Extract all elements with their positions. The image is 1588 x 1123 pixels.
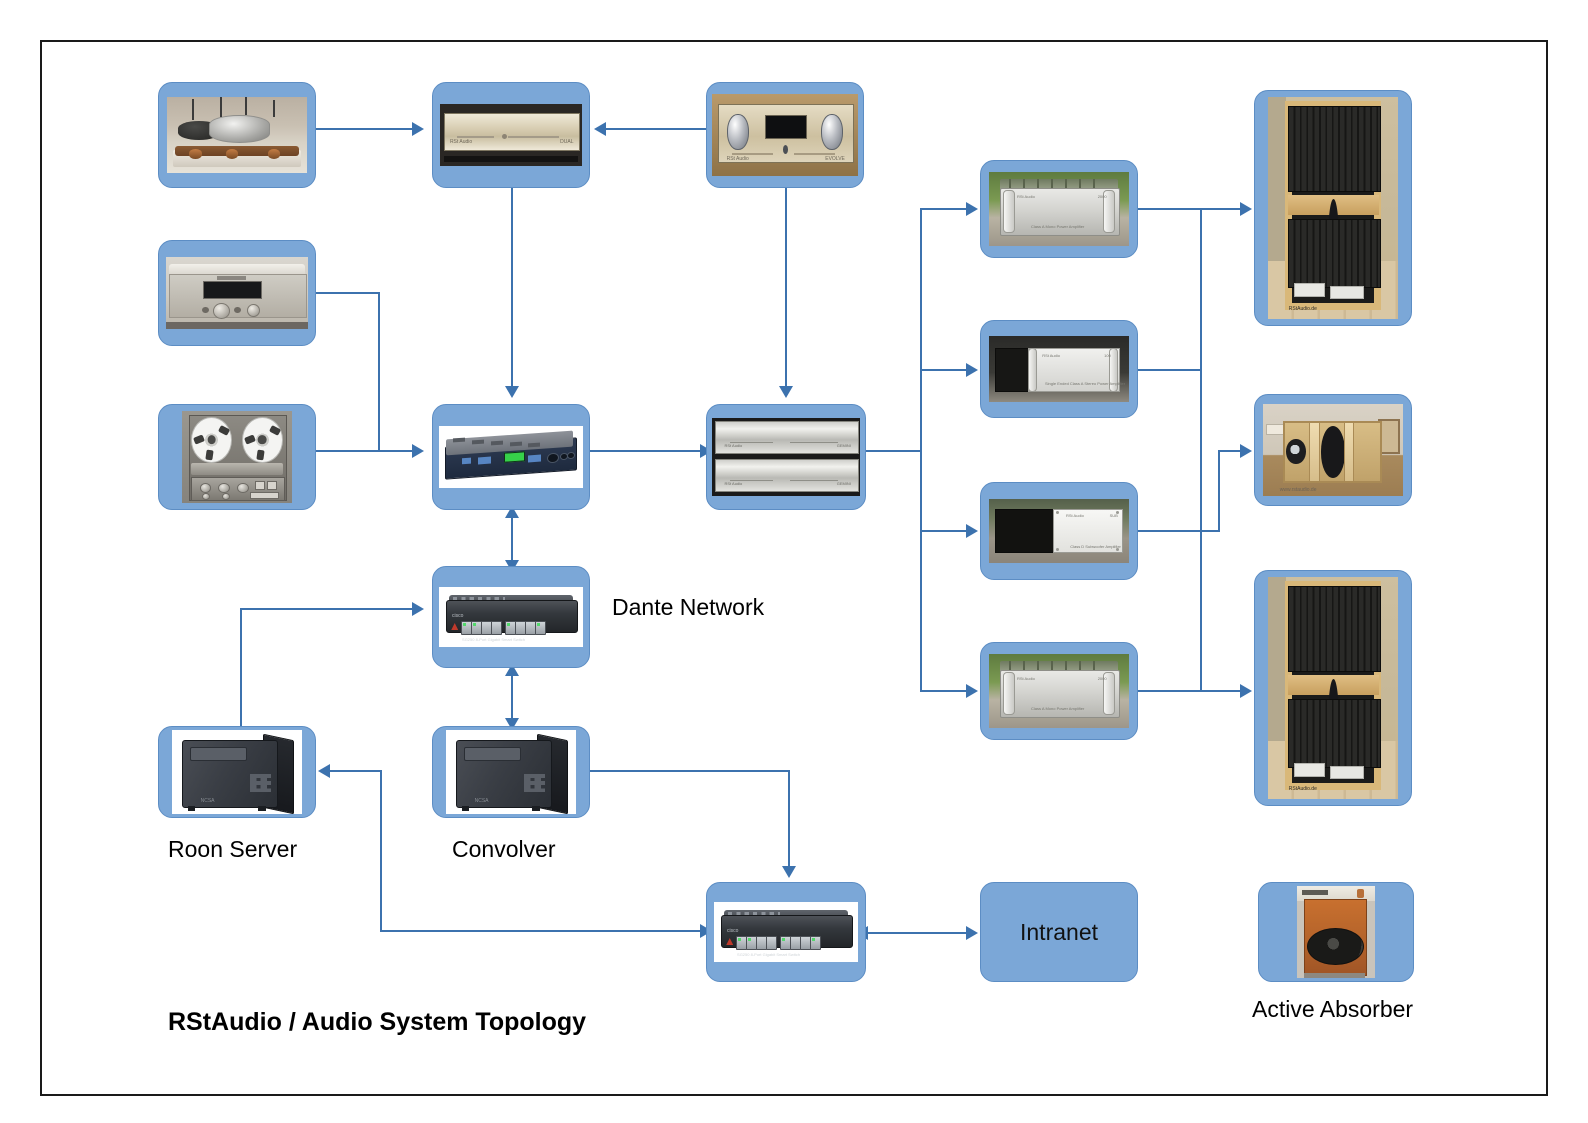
network-switch-photo: cisco SG250 8-Port Gigabit Smart Switch: [714, 902, 858, 962]
edge-reel-to-converter: [316, 450, 412, 452]
convolver-label: Convolver: [452, 836, 556, 863]
edge-cd-bus-vertical: [378, 292, 380, 451]
black-white-amp-photo: RSt Audio SUB Class D Subwoofer Amplifie…: [989, 499, 1129, 563]
edge-cd-to-bus: [316, 292, 380, 294]
node-reel-to-reel[interactable]: [158, 404, 316, 510]
node-preamplifier[interactable]: RSt Audio EVOLVE: [706, 82, 864, 188]
slim-silver-component-photo: RSt Audio DUAL: [440, 104, 582, 166]
edge-roon-to-switch-vertical: [240, 608, 242, 738]
turntable-photo: [167, 97, 307, 173]
node-dante-converter[interactable]: [432, 404, 590, 510]
monoblock-amp-photo: RSt Audio 2000 Class A Mono Power Amplif…: [989, 172, 1129, 246]
edge-phono-to-converter-arrow: [505, 386, 519, 398]
dante-network-label: Dante Network: [612, 594, 764, 621]
server-cube-photo: NCSA: [446, 730, 576, 814]
network-switch-photo: cisco SG250 8-Port Gigabit Smart Switch: [439, 587, 583, 647]
edge-phono-to-converter: [511, 186, 513, 386]
node-subwoofer[interactable]: www.rstaudio.de: [1254, 394, 1412, 506]
edge-convolver-feed-down-arrow: [782, 866, 796, 878]
edge-amp4-in-arrow: [966, 684, 978, 698]
node-speaker-bottom[interactable]: RStAudio.de: [1254, 570, 1412, 806]
edge-speaker-bottom-in-arrow: [1240, 684, 1252, 698]
active-absorber-label: Active Absorber: [1252, 996, 1413, 1023]
edge-switch-intranet: [866, 932, 974, 934]
node-intranet-switch[interactable]: cisco SG250 8-Port Gigabit Smart Switch: [706, 882, 866, 982]
edge-subwoofer-in-arrow: [1240, 444, 1252, 458]
edge-switch-intranet-right-arrow: [966, 926, 978, 940]
node-speaker-top[interactable]: RStAudio.de: [1254, 90, 1412, 326]
edge-turntable-to-phono-arrow: [412, 122, 424, 136]
silver-black-amp-photo: RSt Audio 100 Single Ended Class A Stere…: [989, 336, 1129, 402]
edge-amp3-in-arrow: [966, 524, 978, 538]
edge-speaker-bus-vertical: [1200, 208, 1202, 690]
edge-reel-to-converter-arrow: [412, 444, 424, 458]
node-cd-player[interactable]: [158, 240, 316, 346]
edge-turntable-to-phono: [316, 128, 412, 130]
edge-roon-to-switch-horizontal: [240, 608, 412, 610]
edge-ampbus-to-amp2: [920, 369, 966, 371]
diagram-canvas: RSt Audio DUAL RSt Audio EVOLVE: [0, 0, 1588, 1123]
node-amp-4[interactable]: RSt Audio 2000 Class A Mono Power Amplif…: [980, 642, 1138, 740]
edge-amp2-in-arrow: [966, 363, 978, 377]
edge-amp1-in-arrow: [966, 202, 978, 216]
rack-converter-photo: [439, 426, 583, 488]
edge-convolver-to-roon: [330, 770, 382, 772]
edge-converter-to-poweramp: [590, 450, 706, 452]
edge-roon-to-switch-arrow: [412, 602, 424, 616]
dual-slab-amp-photo: RSt Audio GEMINI RSt Audio GEMINI: [712, 418, 860, 496]
edge-ampbus-to-amp4: [920, 690, 966, 692]
edge-preamp-to-phono: [606, 128, 706, 130]
edge-ampbus-to-amp1: [920, 208, 966, 210]
cd-player-photo: [166, 257, 308, 329]
node-turntable[interactable]: [158, 82, 316, 188]
panel-speaker-photo: RStAudio.de: [1268, 97, 1398, 319]
node-intranet[interactable]: Intranet: [980, 882, 1138, 982]
edge-poweramp-to-ampbus: [866, 450, 922, 452]
edge-amp2-out: [1138, 369, 1200, 371]
node-amp-2[interactable]: RSt Audio 100 Single Ended Class A Stere…: [980, 320, 1138, 418]
reel-to-reel-photo: [182, 411, 292, 503]
intranet-label: Intranet: [1020, 919, 1098, 946]
node-convolver[interactable]: NCSA: [432, 726, 590, 818]
node-amp-3[interactable]: RSt Audio SUB Class D Subwoofer Amplifie…: [980, 482, 1138, 580]
edge-amp1-out: [1138, 208, 1248, 210]
edge-preamp-to-poweramp-arrow: [779, 386, 793, 398]
edge-intranet-to-roon-vertical: [380, 770, 382, 932]
active-absorber-photo: [1297, 886, 1375, 978]
diagram-title: RStAudio / Audio System Topology: [168, 1008, 586, 1037]
node-active-absorber[interactable]: [1258, 882, 1414, 982]
node-amp-1[interactable]: RSt Audio 2000 Class A Mono Power Amplif…: [980, 160, 1138, 258]
edge-convolver-feed-vertical: [788, 770, 790, 868]
edge-ampbus-vertical: [920, 208, 922, 690]
panel-speaker-photo: RStAudio.de: [1268, 577, 1398, 799]
edge-speaker-top-in-arrow: [1240, 202, 1252, 216]
open-baffle-subwoofer-photo: www.rstaudio.de: [1263, 404, 1403, 496]
edge-convolver-to-roon-arrow: [318, 764, 330, 778]
node-stereo-power-amp[interactable]: RSt Audio GEMINI RSt Audio GEMINI: [706, 404, 866, 510]
edge-amp4-out: [1138, 690, 1248, 692]
node-dante-switch[interactable]: cisco SG250 8-Port Gigabit Smart Switch: [432, 566, 590, 668]
preamplifier-photo: RSt Audio EVOLVE: [712, 94, 858, 176]
edge-ampbus-to-amp3: [920, 530, 966, 532]
roon-server-label: Roon Server: [168, 836, 297, 863]
node-roon-server[interactable]: NCSA: [158, 726, 316, 818]
edge-preamp-to-poweramp: [785, 186, 787, 386]
edge-preamp-to-phono-arrow: [594, 122, 606, 136]
monoblock-amp-photo: RSt Audio 2000 Class A Mono Power Amplif…: [989, 654, 1129, 728]
node-phono-stage[interactable]: RSt Audio DUAL: [432, 82, 590, 188]
edge-amp3-out: [1138, 530, 1220, 532]
edge-amp3-to-sub-vertical: [1218, 450, 1220, 532]
server-cube-photo: NCSA: [172, 730, 302, 814]
edge-intranet-to-roon-horizontal: [380, 930, 706, 932]
edge-convolver-feed-horizontal: [590, 770, 790, 772]
